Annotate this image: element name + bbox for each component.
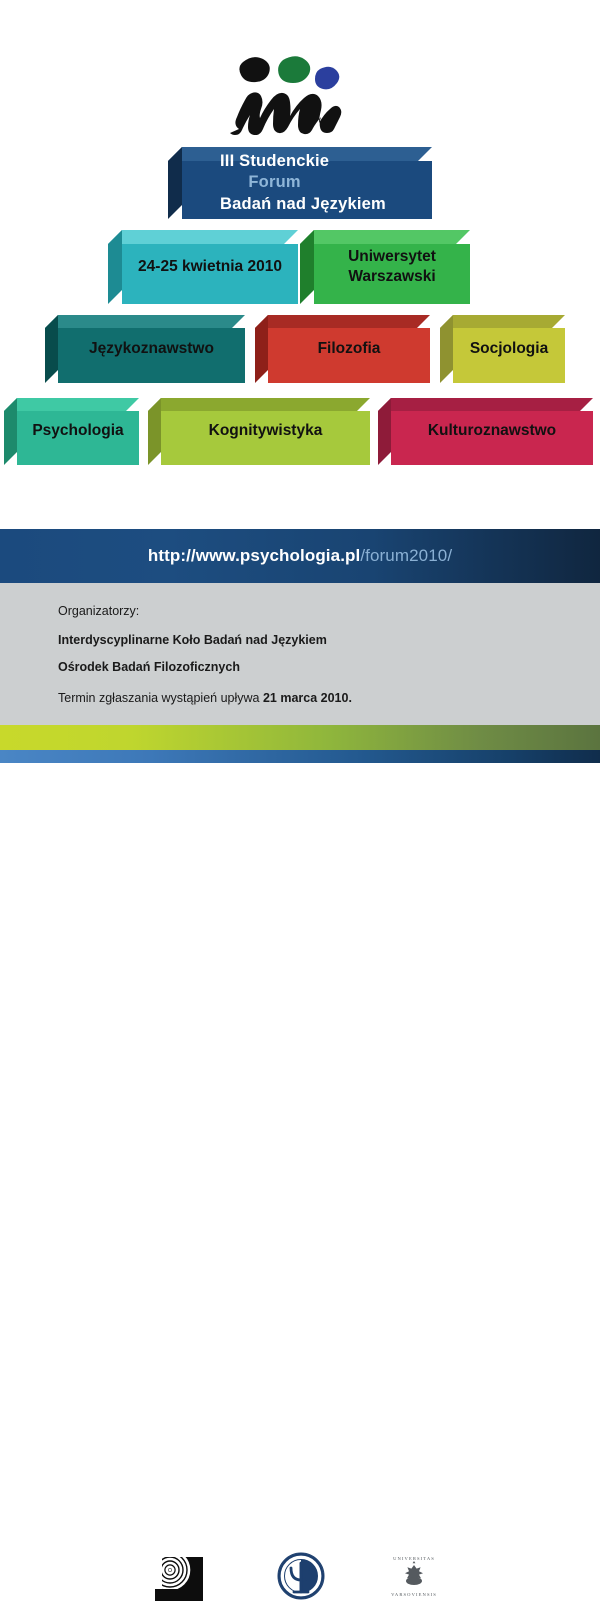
date-block-front-face xyxy=(122,244,298,304)
university-block: Uniwersytet Warszawski xyxy=(300,230,470,304)
psychologia-top-face xyxy=(4,398,139,411)
deadline-text: Termin zgłaszania wystąpień upływa 21 ma… xyxy=(58,691,352,705)
spiral-square-logo xyxy=(155,1553,203,1606)
footer-logos: Ψ UNIVERSITAS VARSOVIENSIS xyxy=(0,770,600,840)
psychologia-front-face xyxy=(17,411,139,465)
url-prefix: http://www.psychologia.pl xyxy=(148,546,360,565)
title-block-front-face xyxy=(182,161,432,219)
poster-logo xyxy=(225,50,355,135)
seal-bottom-text: VARSOVIENSIS xyxy=(391,1592,437,1597)
logo-dot-black xyxy=(239,57,269,82)
psychologia-side-face xyxy=(4,398,17,465)
psi-seal-logo: Ψ xyxy=(277,1552,325,1605)
jezykoznawstwo-top-face xyxy=(45,315,245,328)
university-block-side-face xyxy=(300,230,314,304)
field-block-kognitywistyka: Kognitywistyka xyxy=(148,398,370,465)
blue-accent-band xyxy=(0,750,600,763)
universitas-varsoviensis-seal: UNIVERSITAS VARSOVIENSIS xyxy=(388,1552,440,1605)
date-block-top-face xyxy=(108,230,298,244)
filozofia-side-face xyxy=(255,315,268,383)
field-block-filozofia: Filozofia xyxy=(255,315,430,383)
title-block-side-face xyxy=(168,147,182,219)
logo-dot-blue xyxy=(315,67,339,90)
kulturoznawstwo-front-face xyxy=(391,411,593,465)
university-block-front-face xyxy=(314,244,470,304)
url-suffix: /forum2010/ xyxy=(360,546,452,565)
url-bar: http://www.psychologia.pl/forum2010/ xyxy=(0,529,600,583)
filozofia-front-face xyxy=(268,328,430,383)
organizer-line-1: Interdyscyplinarne Koło Badań nad Języki… xyxy=(58,633,327,647)
kognitywistyka-front-face xyxy=(161,411,370,465)
organizer-line-2: Ośrodek Badań Filozoficznych xyxy=(58,660,240,674)
field-block-kulturoznawstwo: Kulturoznawstwo xyxy=(378,398,593,465)
field-block-socjologia: Socjologia xyxy=(440,315,565,383)
university-block-top-face xyxy=(300,230,470,244)
socjologia-side-face xyxy=(440,315,453,383)
socjologia-top-face xyxy=(440,315,565,328)
jezykoznawstwo-side-face xyxy=(45,315,58,383)
jezykoznawstwo-front-face xyxy=(58,328,245,383)
kulturoznawstwo-top-face xyxy=(378,398,593,411)
date-block: 24-25 kwietnia 2010 xyxy=(108,230,298,304)
logo-stroke-m xyxy=(230,92,341,135)
date-block-side-face xyxy=(108,230,122,304)
filozofia-top-face xyxy=(255,315,430,328)
forum-url[interactable]: http://www.psychologia.pl/forum2010/ xyxy=(148,546,452,566)
kulturoznawstwo-side-face xyxy=(378,398,391,465)
field-block-jezykoznawstwo: Językoznawstwo xyxy=(45,315,245,383)
socjologia-front-face xyxy=(453,328,565,383)
title-block: III Studenckie Forum Badań nad Językiem xyxy=(168,147,432,219)
deadline-date: 21 marca 2010. xyxy=(263,691,352,705)
green-accent-band xyxy=(0,725,600,750)
deadline-prefix: Termin zgłaszania wystąpień upływa xyxy=(58,691,263,705)
info-panel: Organizatorzy: Interdyscyplinarne Koło B… xyxy=(0,583,600,725)
logo-dot-green xyxy=(278,56,310,83)
seal-top-text: UNIVERSITAS xyxy=(393,1556,435,1561)
organizers-heading: Organizatorzy: xyxy=(58,604,139,618)
title-block-top-face xyxy=(168,147,432,161)
field-block-psychologia: Psychologia xyxy=(4,398,139,465)
kognitywistyka-side-face xyxy=(148,398,161,465)
kognitywistyka-top-face xyxy=(148,398,370,411)
